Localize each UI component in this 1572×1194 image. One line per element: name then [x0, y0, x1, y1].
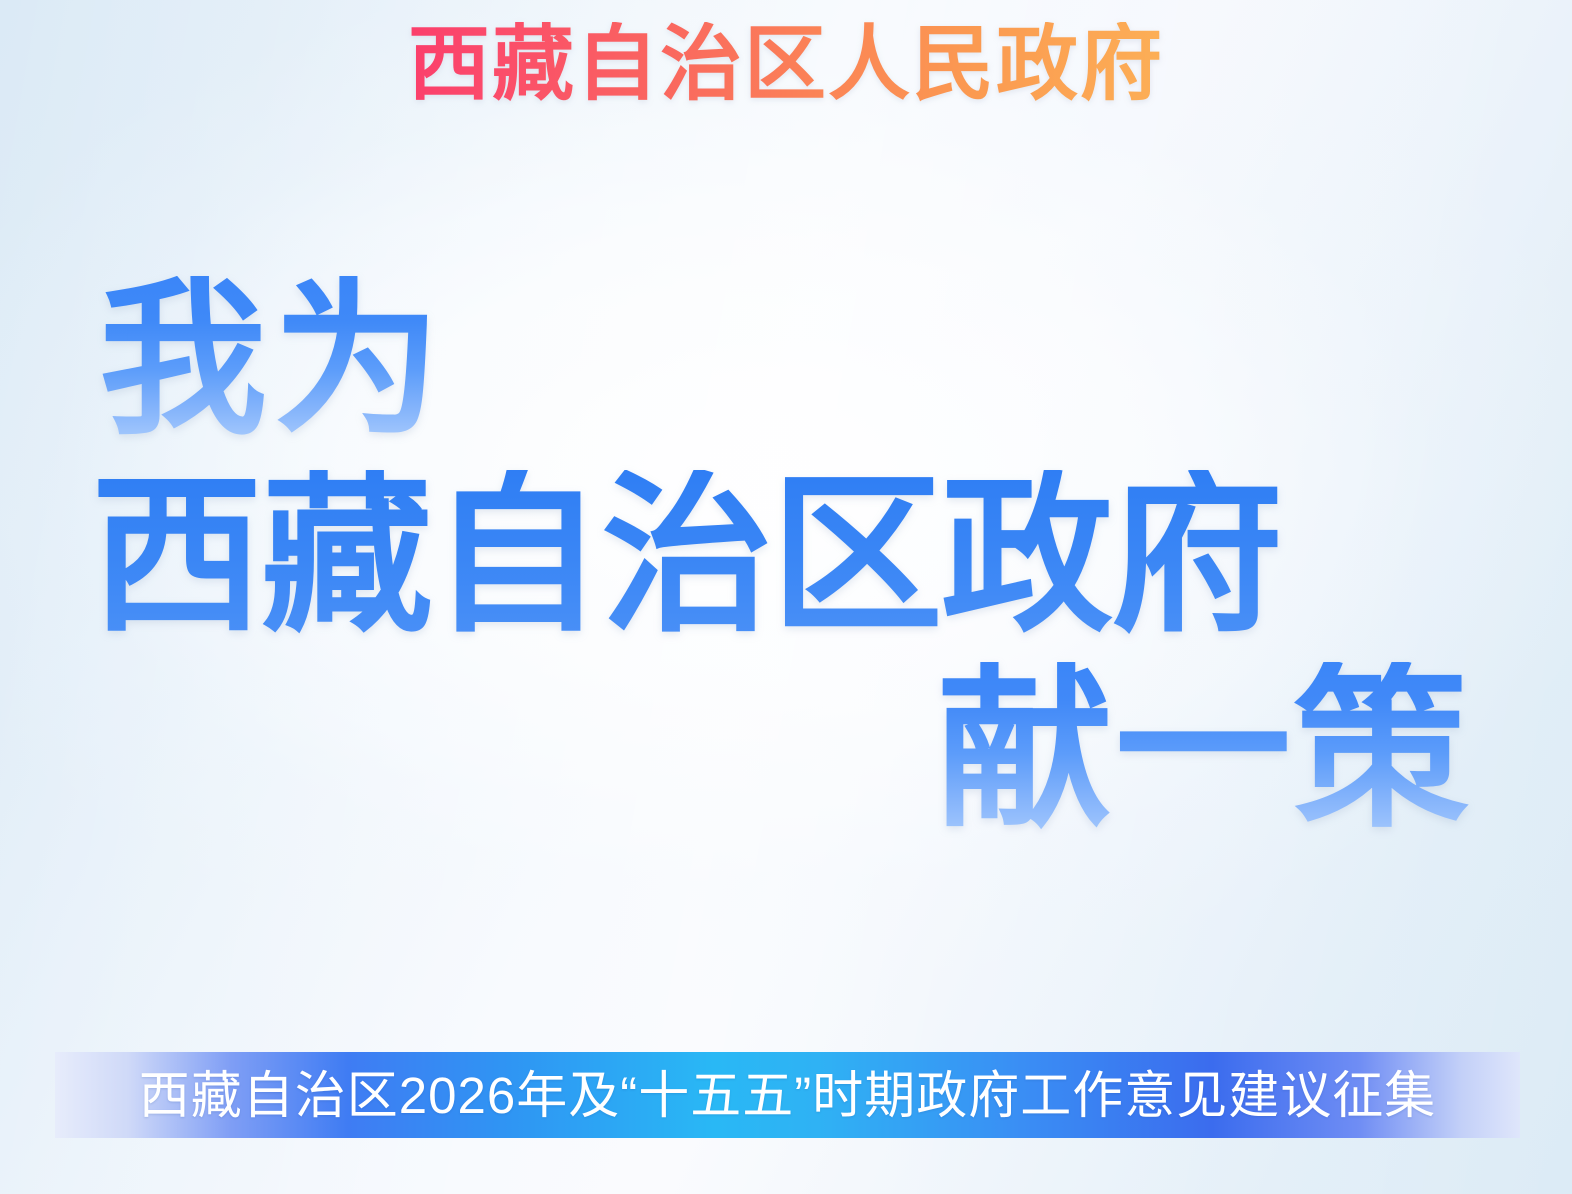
- headline-line-2: 西藏自治区政府: [91, 470, 1477, 642]
- headline-block: 我为 西藏自治区政府 献一策: [95, 276, 1477, 838]
- poster-canvas: 西藏自治区人民政府 我为 西藏自治区政府 献一策 西藏自治区2026年及“十五五…: [0, 0, 1572, 1194]
- header: 西藏自治区人民政府: [0, 22, 1572, 108]
- subtitle-banner-label: 西藏自治区2026年及“十五五”时期政府工作意见建议征集: [139, 1070, 1436, 1121]
- headline-line-3: 献一策: [95, 662, 1471, 838]
- headline-line-1: 我为: [99, 276, 1477, 444]
- page-title: 西藏自治区人民政府: [408, 22, 1164, 108]
- subtitle-banner: 西藏自治区2026年及“十五五”时期政府工作意见建议征集: [55, 1052, 1520, 1138]
